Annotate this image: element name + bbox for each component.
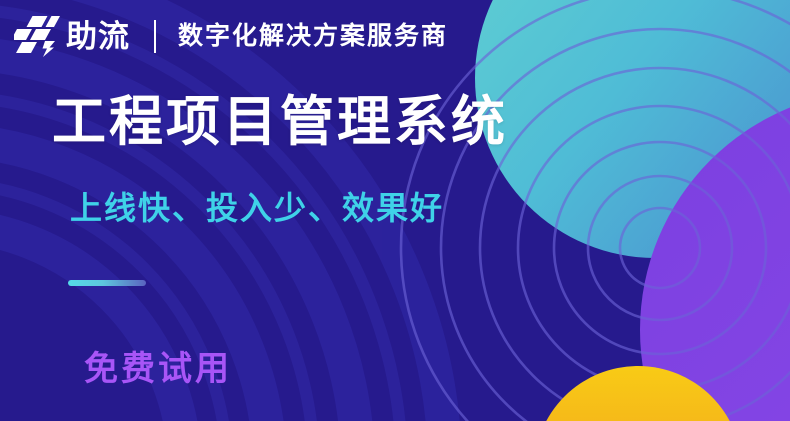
brand-name: 助流 (66, 21, 130, 52)
promo-banner: 助流 数字化解决方案服务商 工程项目管理系统 上线快、投入少、效果好 免费试用 (0, 0, 790, 421)
header-divider (154, 20, 156, 53)
brand-header: 助流 数字化解决方案服务商 (14, 12, 448, 60)
page-title: 工程项目管理系统 (52, 92, 508, 152)
zhuliu-lightning-blocks-logo-icon (14, 14, 60, 58)
hero-subtitle: 上线快、投入少、效果好 (70, 190, 444, 227)
banner-content: 助流 数字化解决方案服务商 工程项目管理系统 上线快、投入少、效果好 免费试用 (0, 0, 790, 421)
free-trial-cta[interactable]: 免费试用 (84, 350, 232, 389)
accent-divider-bar (68, 280, 146, 286)
brand-tagline: 数字化解决方案服务商 (178, 24, 448, 49)
